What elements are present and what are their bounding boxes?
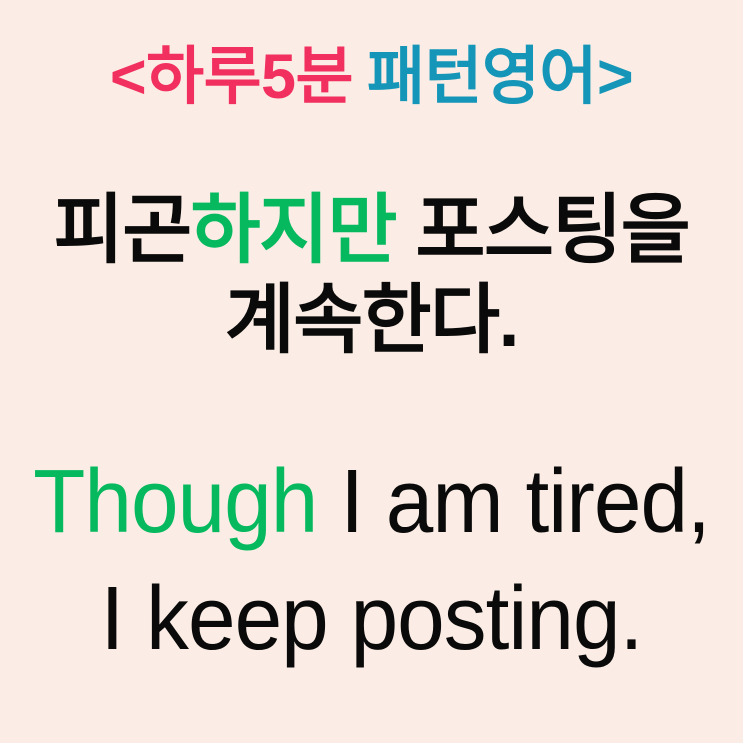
korean-black-segment-c: 계속한다. xyxy=(225,278,518,363)
title-block: <하루5분패턴영어> xyxy=(0,46,743,109)
korean-black-segment-a: 피곤 xyxy=(54,188,191,273)
english-line-2: I keep posting. xyxy=(19,561,725,678)
english-black-segment-a: I am tired, xyxy=(317,452,709,552)
card-title: <하루5분패턴영어> xyxy=(0,46,743,109)
english-black-segment-b: I keep posting. xyxy=(101,569,643,669)
korean-sentence-block: 피곤하지만 포스팅을 계속한다. xyxy=(0,186,743,365)
korean-green-segment: 하지만 xyxy=(191,188,396,273)
english-green-segment: Though xyxy=(33,452,317,552)
lesson-card: <하루5분패턴영어> 피곤하지만 포스팅을 계속한다. Though I am … xyxy=(0,0,743,743)
korean-black-segment-b: 포스팅을 xyxy=(396,188,689,273)
korean-line-2: 계속한다. xyxy=(0,276,743,366)
korean-line-1: 피곤하지만 포스팅을 xyxy=(0,186,743,276)
english-sentence-block: Though I am tired, I keep posting. xyxy=(0,444,743,678)
title-pink-segment: <하루5분 xyxy=(110,42,353,112)
title-teal-segment: 패턴영어> xyxy=(367,42,633,112)
english-line-1: Though I am tired, xyxy=(19,444,725,561)
